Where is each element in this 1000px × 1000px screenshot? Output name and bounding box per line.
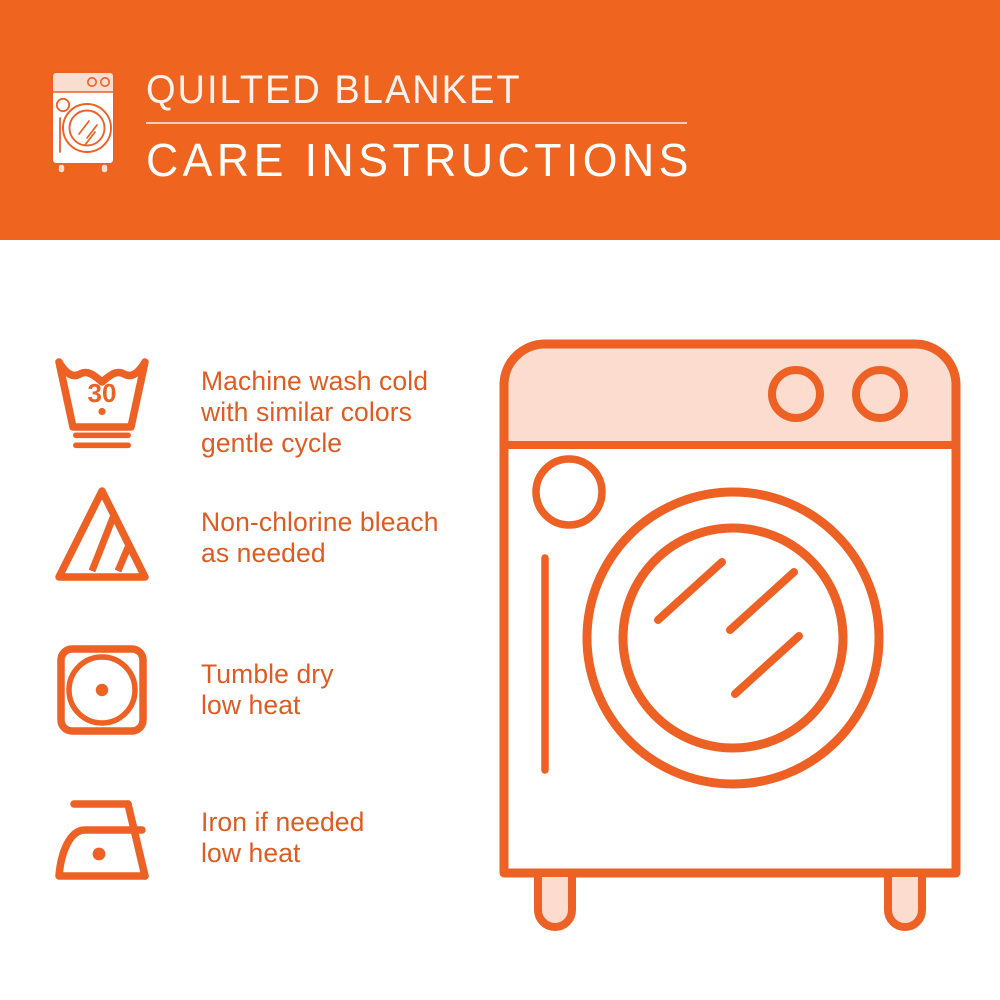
care-item-tumble-dry-label: Tumble dry low heat <box>201 659 334 721</box>
care-instructions-list: 30 Machine wash cold with similar colors… <box>0 240 480 1000</box>
wash-basin-gentle-icon: 30 <box>52 352 152 457</box>
wash-temperature-value: 30 <box>88 378 117 408</box>
page-title-primary: QUILTED BLANKET <box>146 68 678 112</box>
header-title-block: QUILTED BLANKET CARE INSTRUCTIONS <box>146 68 706 185</box>
page-title-secondary: CARE INSTRUCTIONS <box>146 135 689 185</box>
control-panel <box>504 344 956 445</box>
care-item-wash-label: Machine wash cold with similar colors ge… <box>201 366 428 459</box>
washing-machine-icon <box>44 66 126 176</box>
iron-low-heat-icon <box>52 790 152 895</box>
tumble-dry-low-icon <box>52 640 152 745</box>
washing-machine-illustration <box>490 330 970 950</box>
leg-left <box>538 873 572 927</box>
care-instructions-infographic: QUILTED BLANKET CARE INSTRUCTIONS 30 <box>0 0 1000 1000</box>
bleach-triangle-icon <box>52 485 152 590</box>
leg-right <box>888 873 922 927</box>
care-item-bleach-label: Non-chlorine bleach as needed <box>201 507 439 569</box>
title-divider <box>146 122 687 124</box>
care-item-iron-label: Iron if needed low heat <box>201 807 364 869</box>
header-banner: QUILTED BLANKET CARE INSTRUCTIONS <box>0 0 1000 240</box>
